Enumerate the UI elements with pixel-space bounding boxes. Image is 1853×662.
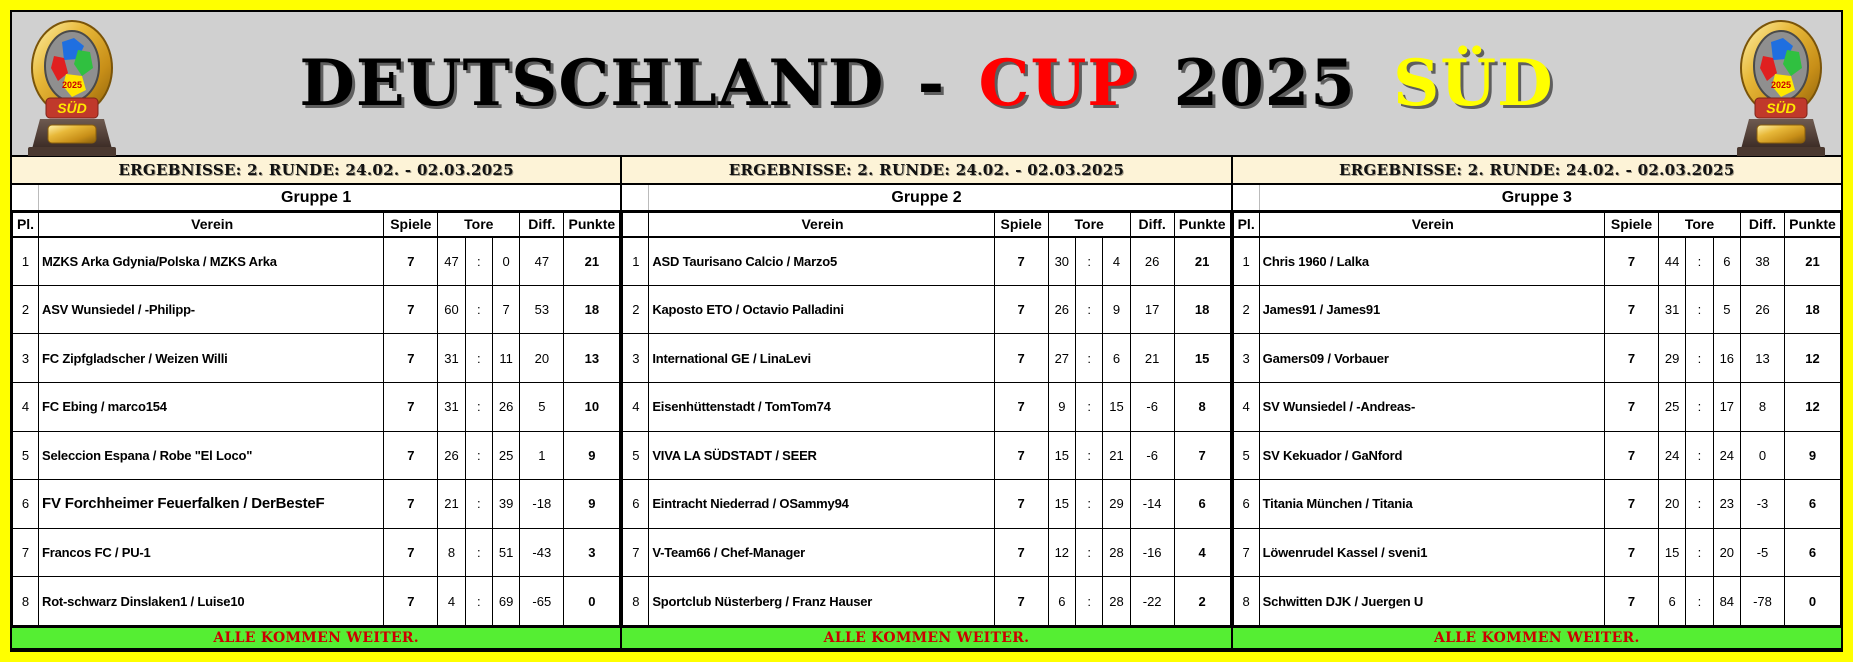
title-part-cup: CUP [979, 46, 1137, 121]
cell-games: 7 [384, 237, 438, 286]
cell-rank: 4 [1233, 382, 1259, 431]
cell-diff: -16 [1130, 528, 1174, 577]
cell-club: Rot-schwarz Dinslaken1 / Luise10 [39, 577, 384, 626]
cell-diff: 5 [520, 382, 564, 431]
cell-goals-for: 8 [438, 528, 465, 577]
cell-diff: 1 [520, 431, 564, 480]
cell-goals-for: 4 [438, 577, 465, 626]
cell-goals-for: 26 [438, 431, 465, 480]
cell-separator: : [1686, 237, 1713, 286]
cell-club: VIVA LA SÜDSTADT / SEER [649, 431, 994, 480]
table-row: 4SV Wunsiedel / -Andreas-725:17812 [1233, 382, 1840, 431]
cell-rank: 4 [13, 382, 39, 431]
title-part-year: 2025 [1174, 46, 1356, 121]
cell-diff: -22 [1130, 577, 1174, 626]
cell-goals-for: 15 [1048, 431, 1075, 480]
cell-club: Seleccion Espana / Robe "El Loco" [39, 431, 384, 480]
cell-games: 7 [1604, 237, 1658, 286]
cell-club: V-Team66 / Chef-Manager [649, 528, 994, 577]
svg-text:SÜD: SÜD [57, 100, 87, 116]
cell-club: FC Ebing / marco154 [39, 382, 384, 431]
cell-club: SV Kekuador / GaNford [1259, 431, 1604, 480]
cell-separator: : [1686, 528, 1713, 577]
cell-goals-against: 28 [1103, 577, 1130, 626]
cell-points: 18 [1174, 285, 1230, 334]
cell-points: 9 [564, 480, 620, 529]
cell-points: 9 [564, 431, 620, 480]
cell-goals-against: 7 [492, 285, 519, 334]
cell-points: 15 [1174, 334, 1230, 383]
cell-goals-for: 12 [1048, 528, 1075, 577]
subtitle-group-3: ERGEBNISSE: 2. RUNDE: 24.02. - 02.03.202… [1231, 157, 1841, 183]
cell-goals-against: 15 [1103, 382, 1130, 431]
cell-rank: 4 [623, 382, 649, 431]
cell-games: 7 [1604, 480, 1658, 529]
table-row: 8Schwitten DJK / Juergen U76:84-780 [1233, 577, 1840, 626]
cell-separator: : [465, 237, 492, 286]
cell-games: 7 [384, 431, 438, 480]
cell-separator: : [1075, 382, 1102, 431]
cell-goals-for: 15 [1048, 480, 1075, 529]
cell-separator: : [1075, 237, 1102, 286]
cell-separator: : [1686, 334, 1713, 383]
cell-goals-against: 16 [1713, 334, 1740, 383]
cell-separator: : [1075, 431, 1102, 480]
group-1-footer-note: ALLE KOMMEN WEITER. [12, 626, 620, 650]
group-2-standings-table: Verein Spiele Tore Diff. Punkte 1ASD Tau… [622, 212, 1230, 626]
cell-points: 21 [1784, 237, 1840, 286]
page-root: 2025 SÜD DEUTSCHLAND - CUP 2025 SÜD [0, 0, 1853, 662]
cell-club: International GE / LinaLevi [649, 334, 994, 383]
column-header-verein: Verein [39, 213, 384, 237]
cell-rank: 5 [623, 431, 649, 480]
subtitle-row: ERGEBNISSE: 2. RUNDE: 24.02. - 02.03.202… [12, 157, 1841, 185]
trophy-right-icon: 2025 SÜD [1727, 16, 1835, 156]
cell-goals-against: 28 [1103, 528, 1130, 577]
cell-rank: 2 [1233, 285, 1259, 334]
cell-diff: -43 [520, 528, 564, 577]
cell-points: 21 [564, 237, 620, 286]
cell-games: 7 [994, 237, 1048, 286]
subtitle-group-2: ERGEBNISSE: 2. RUNDE: 24.02. - 02.03.202… [620, 157, 1230, 183]
cell-separator: : [465, 431, 492, 480]
cell-club: ASV Wunsiedel / -Philipp- [39, 285, 384, 334]
column-header-spiele: Spiele [384, 213, 438, 237]
cell-points: 9 [1784, 431, 1840, 480]
group-3: Gruppe 3 Pl. Verein Spiele Tore Diff. Pu… [1231, 185, 1841, 650]
cell-rank: 8 [13, 577, 39, 626]
cell-goals-against: 21 [1103, 431, 1130, 480]
cell-club: James91 / James91 [1259, 285, 1604, 334]
cell-points: 21 [1174, 237, 1230, 286]
table-row: 5SV Kekuador / GaNford724:2409 [1233, 431, 1840, 480]
group-1-rows: 1MZKS Arka Gdynia/Polska / MZKS Arka747:… [13, 237, 620, 626]
cell-goals-against: 0 [492, 237, 519, 286]
column-header-diff: Diff. [520, 213, 564, 237]
cell-games: 7 [384, 577, 438, 626]
group-1-standings-table: Pl. Verein Spiele Tore Diff. Punkte 1MZK… [12, 212, 620, 626]
cell-diff: 47 [520, 237, 564, 286]
column-header-spiele: Spiele [994, 213, 1048, 237]
cell-games: 7 [994, 577, 1048, 626]
column-header-pl: Pl. [1233, 213, 1259, 237]
table-row: 5Seleccion Espana / Robe "El Loco"726:25… [13, 431, 620, 480]
column-header-diff: Diff. [1740, 213, 1784, 237]
cell-games: 7 [1604, 431, 1658, 480]
cell-points: 18 [1784, 285, 1840, 334]
cell-points: 0 [1784, 577, 1840, 626]
cell-club: Kaposto ETO / Octavio Palladini [649, 285, 994, 334]
cell-games: 7 [384, 480, 438, 529]
cell-goals-against: 17 [1713, 382, 1740, 431]
svg-text:SÜD: SÜD [1766, 100, 1796, 116]
cell-points: 12 [1784, 382, 1840, 431]
cell-games: 7 [994, 382, 1048, 431]
cell-separator: : [1075, 528, 1102, 577]
cell-separator: : [1686, 285, 1713, 334]
table-header-row: Pl. Verein Spiele Tore Diff. Punkte [1233, 213, 1840, 237]
cell-diff: -5 [1740, 528, 1784, 577]
cell-goals-against: 69 [492, 577, 519, 626]
cell-rank: 6 [13, 480, 39, 529]
cell-goals-for: 27 [1048, 334, 1075, 383]
table-row: 7Francos FC / PU-178:51-433 [13, 528, 620, 577]
cell-goals-for: 15 [1658, 528, 1685, 577]
column-header-diff: Diff. [1130, 213, 1174, 237]
cell-goals-against: 29 [1103, 480, 1130, 529]
cell-points: 10 [564, 382, 620, 431]
cell-separator: : [465, 382, 492, 431]
cell-separator: : [1075, 480, 1102, 529]
cell-rank: 6 [623, 480, 649, 529]
cell-diff: 53 [520, 285, 564, 334]
cell-rank: 3 [1233, 334, 1259, 383]
table-row: 1ASD Taurisano Calcio / Marzo5730:42621 [623, 237, 1230, 286]
cell-goals-against: 23 [1713, 480, 1740, 529]
group-2-footer-note: ALLE KOMMEN WEITER. [622, 626, 1230, 650]
cell-rank: 3 [13, 334, 39, 383]
cell-club: FV Forchheimer Feuerfalken / DerBesteF [39, 480, 384, 529]
cell-goals-for: 60 [438, 285, 465, 334]
group-3-rows: 1Chris 1960 / Lalka744:63821 2James91 / … [1233, 237, 1840, 626]
cell-rank: 7 [1233, 528, 1259, 577]
cell-diff: -78 [1740, 577, 1784, 626]
cell-rank: 6 [1233, 480, 1259, 529]
cell-goals-for: 21 [438, 480, 465, 529]
column-header-tore: Tore [1048, 213, 1130, 237]
cell-goals-against: 84 [1713, 577, 1740, 626]
cell-points: 6 [1784, 528, 1840, 577]
cell-separator: : [1075, 577, 1102, 626]
cell-diff: 21 [1130, 334, 1174, 383]
group-2: Gruppe 2 Verein Spiele Tore Diff. Punkte [620, 185, 1230, 650]
cell-club: FC Zipfgladscher / Weizen Willi [39, 334, 384, 383]
cell-club: ASD Taurisano Calcio / Marzo5 [649, 237, 994, 286]
cell-games: 7 [1604, 382, 1658, 431]
cell-goals-for: 31 [1658, 285, 1685, 334]
cell-goals-against: 39 [492, 480, 519, 529]
cell-goals-against: 20 [1713, 528, 1740, 577]
cell-diff: -65 [520, 577, 564, 626]
column-header-tore: Tore [1658, 213, 1740, 237]
cell-rank: 1 [13, 237, 39, 286]
cell-goals-for: 30 [1048, 237, 1075, 286]
cell-rank: 7 [13, 528, 39, 577]
poster-frame: 2025 SÜD DEUTSCHLAND - CUP 2025 SÜD [10, 10, 1843, 652]
cell-games: 7 [994, 334, 1048, 383]
cell-separator: : [465, 334, 492, 383]
cell-club: Francos FC / PU-1 [39, 528, 384, 577]
cell-diff: 13 [1740, 334, 1784, 383]
cell-games: 7 [994, 285, 1048, 334]
cell-goals-for: 44 [1658, 237, 1685, 286]
cell-separator: : [1686, 382, 1713, 431]
table-row: 2Kaposto ETO / Octavio Palladini726:9171… [623, 285, 1230, 334]
trophy-left-icon: 2025 SÜD [18, 16, 126, 156]
cell-rank: 5 [1233, 431, 1259, 480]
cell-diff: 17 [1130, 285, 1174, 334]
cell-points: 6 [1174, 480, 1230, 529]
cell-points: 18 [564, 285, 620, 334]
cell-diff: -18 [520, 480, 564, 529]
cell-goals-for: 24 [1658, 431, 1685, 480]
cell-goals-for: 31 [438, 334, 465, 383]
cell-separator: : [1075, 334, 1102, 383]
cell-games: 7 [1604, 528, 1658, 577]
cell-goals-for: 31 [438, 382, 465, 431]
cell-points: 13 [564, 334, 620, 383]
cell-rank: 2 [13, 285, 39, 334]
cell-separator: : [1686, 480, 1713, 529]
column-header-verein: Verein [1259, 213, 1604, 237]
cell-goals-for: 26 [1048, 285, 1075, 334]
cell-diff: 20 [520, 334, 564, 383]
cell-games: 7 [384, 382, 438, 431]
cell-separator: : [1686, 431, 1713, 480]
table-row: 8Rot-schwarz Dinslaken1 / Luise1074:69-6… [13, 577, 620, 626]
cell-diff: 26 [1130, 237, 1174, 286]
table-row: 5VIVA LA SÜDSTADT / SEER715:21-67 [623, 431, 1230, 480]
cell-goals-for: 29 [1658, 334, 1685, 383]
column-header-punkte: Punkte [1784, 213, 1840, 237]
title-part-dash: - [918, 46, 946, 121]
table-row: 2James91 / James91731:52618 [1233, 285, 1840, 334]
cell-goals-against: 9 [1103, 285, 1130, 334]
cell-points: 6 [1784, 480, 1840, 529]
column-header-punkte: Punkte [1174, 213, 1230, 237]
cell-rank: 2 [623, 285, 649, 334]
cell-rank: 7 [623, 528, 649, 577]
column-header-punkte: Punkte [564, 213, 620, 237]
cell-goals-against: 6 [1103, 334, 1130, 383]
table-header-row: Pl. Verein Spiele Tore Diff. Punkte [13, 213, 620, 237]
cell-goals-against: 51 [492, 528, 519, 577]
cell-rank: 1 [1233, 237, 1259, 286]
cell-separator: : [465, 285, 492, 334]
cell-diff: 0 [1740, 431, 1784, 480]
cell-separator: : [465, 480, 492, 529]
cell-separator: : [1686, 577, 1713, 626]
cell-games: 7 [994, 431, 1048, 480]
cell-points: 8 [1174, 382, 1230, 431]
cell-goals-against: 24 [1713, 431, 1740, 480]
cell-separator: : [465, 577, 492, 626]
group-1: Gruppe 1 Pl. Verein Spiele Tore Diff. Pu… [12, 185, 620, 650]
cell-games: 7 [1604, 334, 1658, 383]
cell-club: MZKS Arka Gdynia/Polska / MZKS Arka [39, 237, 384, 286]
group-3-footer-note: ALLE KOMMEN WEITER. [1233, 626, 1841, 650]
subtitle-group-1: ERGEBNISSE: 2. RUNDE: 24.02. - 02.03.202… [12, 157, 620, 183]
cell-points: 7 [1174, 431, 1230, 480]
header-banner: 2025 SÜD DEUTSCHLAND - CUP 2025 SÜD [12, 12, 1841, 157]
column-header-pl [623, 213, 649, 237]
cell-club: Titania München / Titania [1259, 480, 1604, 529]
group-2-rows: 1ASD Taurisano Calcio / Marzo5730:42621 … [623, 237, 1230, 626]
title-part-sued: SÜD [1393, 46, 1554, 121]
cell-goals-against: 11 [492, 334, 519, 383]
page-title: DEUTSCHLAND - CUP 2025 SÜD [299, 46, 1553, 121]
cell-rank: 5 [13, 431, 39, 480]
table-row: 4Eisenhüttenstadt / TomTom7479:15-68 [623, 382, 1230, 431]
table-row: 6Titania München / Titania720:23-36 [1233, 480, 1840, 529]
cell-points: 2 [1174, 577, 1230, 626]
cell-goals-for: 9 [1048, 382, 1075, 431]
cell-diff: 8 [1740, 382, 1784, 431]
group-2-title: Gruppe 2 [622, 185, 1230, 212]
table-row: 4FC Ebing / marco154731:26510 [13, 382, 620, 431]
cell-games: 7 [1604, 285, 1658, 334]
cell-goals-against: 6 [1713, 237, 1740, 286]
table-row: 1Chris 1960 / Lalka744:63821 [1233, 237, 1840, 286]
table-row: 6FV Forchheimer Feuerfalken / DerBesteF7… [13, 480, 620, 529]
svg-text:2025: 2025 [62, 80, 82, 90]
table-row: 6Eintracht Niederrad / OSammy94715:29-14… [623, 480, 1230, 529]
cell-rank: 1 [623, 237, 649, 286]
table-row: 7Löwenrudel Kassel / sveni1715:20-56 [1233, 528, 1840, 577]
cell-goals-against: 4 [1103, 237, 1130, 286]
cell-club: Chris 1960 / Lalka [1259, 237, 1604, 286]
cell-games: 7 [1604, 577, 1658, 626]
column-header-pl: Pl. [13, 213, 39, 237]
cell-games: 7 [384, 285, 438, 334]
cell-goals-for: 47 [438, 237, 465, 286]
cell-games: 7 [384, 528, 438, 577]
table-row: 3FC Zipfgladscher / Weizen Willi731:1120… [13, 334, 620, 383]
cell-rank: 8 [623, 577, 649, 626]
cell-diff: -6 [1130, 431, 1174, 480]
group-3-standings-table: Pl. Verein Spiele Tore Diff. Punkte 1Chr… [1233, 212, 1841, 626]
group-1-title: Gruppe 1 [12, 185, 620, 212]
table-row: 2ASV Wunsiedel / -Philipp-760:75318 [13, 285, 620, 334]
cell-club: Löwenrudel Kassel / sveni1 [1259, 528, 1604, 577]
cell-points: 0 [564, 577, 620, 626]
cell-points: 12 [1784, 334, 1840, 383]
cell-goals-against: 5 [1713, 285, 1740, 334]
cell-goals-for: 6 [1658, 577, 1685, 626]
cell-diff: 38 [1740, 237, 1784, 286]
cell-rank: 3 [623, 334, 649, 383]
cell-diff: -3 [1740, 480, 1784, 529]
cell-separator: : [465, 528, 492, 577]
table-row: 3International GE / LinaLevi727:62115 [623, 334, 1230, 383]
column-header-verein: Verein [649, 213, 994, 237]
cell-rank: 8 [1233, 577, 1259, 626]
cell-club: Schwitten DJK / Juergen U [1259, 577, 1604, 626]
cell-games: 7 [384, 334, 438, 383]
cell-points: 3 [564, 528, 620, 577]
cell-goals-for: 6 [1048, 577, 1075, 626]
table-row: 8Sportclub Nüsterberg / Franz Hauser76:2… [623, 577, 1230, 626]
cell-goals-for: 20 [1658, 480, 1685, 529]
table-header-row: Verein Spiele Tore Diff. Punkte [623, 213, 1230, 237]
cell-diff: -14 [1130, 480, 1174, 529]
title-part-deutschland: DEUTSCHLAND [299, 46, 884, 121]
cell-club: Gamers09 / Vorbauer [1259, 334, 1604, 383]
cell-goals-against: 25 [492, 431, 519, 480]
cell-club: Eisenhüttenstadt / TomTom74 [649, 382, 994, 431]
svg-text:2025: 2025 [1771, 80, 1791, 90]
table-row: 1MZKS Arka Gdynia/Polska / MZKS Arka747:… [13, 237, 620, 286]
cell-club: SV Wunsiedel / -Andreas- [1259, 382, 1604, 431]
table-row: 7V-Team66 / Chef-Manager712:28-164 [623, 528, 1230, 577]
cell-games: 7 [994, 480, 1048, 529]
cell-club: Eintracht Niederrad / OSammy94 [649, 480, 994, 529]
table-row: 3Gamers09 / Vorbauer729:161312 [1233, 334, 1840, 383]
cell-games: 7 [994, 528, 1048, 577]
group-3-title: Gruppe 3 [1233, 185, 1841, 212]
cell-diff: 26 [1740, 285, 1784, 334]
groups-container: Gruppe 1 Pl. Verein Spiele Tore Diff. Pu… [12, 185, 1841, 650]
cell-goals-for: 25 [1658, 382, 1685, 431]
column-header-spiele: Spiele [1604, 213, 1658, 237]
cell-points: 4 [1174, 528, 1230, 577]
cell-separator: : [1075, 285, 1102, 334]
cell-club: Sportclub Nüsterberg / Franz Hauser [649, 577, 994, 626]
column-header-tore: Tore [438, 213, 520, 237]
cell-goals-against: 26 [492, 382, 519, 431]
cell-diff: -6 [1130, 382, 1174, 431]
